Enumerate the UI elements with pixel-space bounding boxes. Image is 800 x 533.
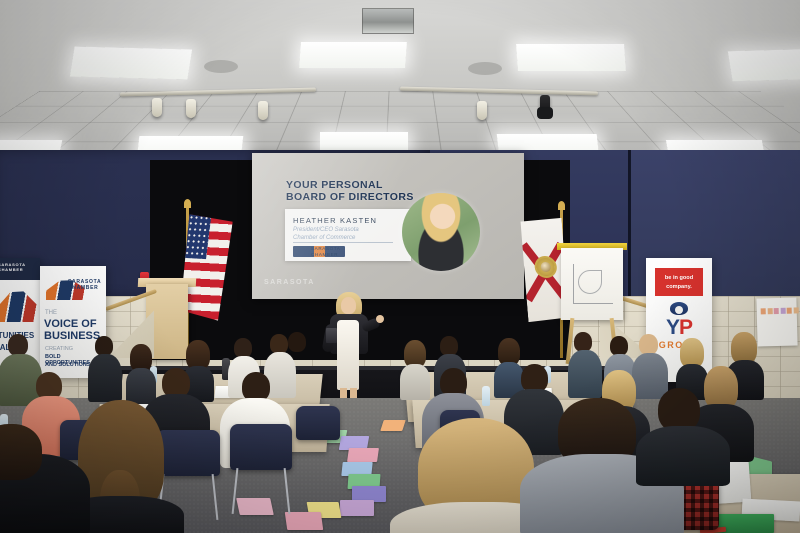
floor-card — [285, 512, 324, 530]
conference-room-photo: YOUR PERSONAL BOARD OF DIRECTORS HEATHER… — [0, 0, 800, 533]
slide-logo-line-1: SARASOTA — [311, 246, 340, 252]
yp-letter-p: P — [679, 316, 692, 339]
slide-logo-line-2: CHAMBER — [311, 252, 340, 258]
sticky-note — [761, 308, 766, 314]
slide-content: YOUR PERSONAL BOARD OF DIRECTORS HEATHER… — [252, 153, 524, 299]
banner-logo-text: SARASOTA CHAMBER — [0, 263, 38, 272]
audience-member — [636, 388, 724, 478]
yp-logo-mark-icon — [670, 302, 688, 315]
slide-logo-text: SARASOTA CHAMBER — [311, 246, 340, 257]
ceiling-speaker-grille — [468, 62, 502, 75]
audience-torso — [88, 354, 122, 402]
drop-tile-ceiling — [0, 0, 800, 168]
slide-speaker-name: HEATHER KASTEN — [293, 216, 377, 225]
sticky-note-row — [761, 307, 799, 314]
audience-member — [88, 336, 122, 398]
presenter-hand — [376, 315, 384, 323]
wall-seam — [628, 150, 631, 300]
audience-hair — [0, 424, 42, 480]
audience-head — [8, 334, 28, 356]
yp-tagline-box: be in good company. — [655, 268, 703, 296]
ceiling-light-panel — [728, 49, 800, 81]
audience-head — [288, 332, 306, 352]
audience-head — [610, 336, 628, 356]
wall-poster-sticky-chart — [756, 297, 797, 346]
slide-speaker-role-line-1: President/CEO Sarasota — [293, 227, 403, 235]
sticky-note — [793, 307, 798, 313]
slide-title-line-1: YOUR PERSONAL — [286, 179, 436, 191]
audience-torso — [282, 350, 316, 398]
banner-sub-line-3: AND SOLUTIONS — [45, 362, 91, 368]
yp-tagline-line-2: company. — [655, 283, 703, 291]
projection-screen: YOUR PERSONAL BOARD OF DIRECTORS HEATHER… — [252, 153, 524, 299]
floor-card — [236, 498, 274, 515]
slide-card-divider — [293, 242, 393, 243]
track-spotlight — [152, 98, 162, 117]
audience-member-foreground — [0, 424, 80, 533]
audience-member — [282, 332, 314, 394]
flip-chart-board — [561, 248, 623, 320]
track-spotlight — [477, 101, 487, 120]
presenter-dress — [337, 320, 359, 390]
ceiling-air-vent — [362, 8, 414, 34]
presenter-notes — [326, 328, 337, 343]
chamber-swoosh-icon — [0, 288, 37, 322]
presenter-head — [341, 297, 356, 314]
yp-tagline-line-1: be in good — [655, 274, 703, 282]
slide-headshot-avatar — [402, 193, 480, 271]
audience-head — [639, 334, 658, 355]
banner-eyebrow: THE — [45, 310, 57, 317]
ceiling-light-panel — [70, 46, 192, 79]
ceiling-light-panel — [516, 44, 626, 71]
sticky-note — [780, 308, 785, 314]
track-spotlight — [258, 101, 268, 120]
water-bottle — [482, 386, 490, 406]
ceiling-speaker-grille — [204, 60, 238, 73]
stacking-chair[interactable] — [230, 424, 292, 470]
audience-torso — [636, 426, 730, 486]
audience-head — [234, 338, 252, 358]
audience-head — [574, 332, 592, 352]
track-spotlight — [540, 95, 550, 114]
floor-card — [347, 448, 379, 462]
yp-letter-y: Y — [666, 316, 679, 339]
slide-title: YOUR PERSONAL BOARD OF DIRECTORS — [286, 179, 436, 203]
flip-chart-sketch — [573, 264, 613, 304]
banner-logo-text: SARASOTA CHAMBER — [68, 280, 101, 292]
ceiling-light-panel — [299, 42, 407, 68]
slide-speaker-role: President/CEO Sarasota Chamber of Commer… — [293, 227, 403, 242]
track-spotlight — [186, 99, 196, 118]
audience-head — [440, 336, 458, 356]
banner-sub-line-1: CREATING — [45, 346, 73, 352]
banner-logo-line-2: CHAMBER — [68, 286, 101, 292]
sticky-note — [767, 308, 772, 314]
sticky-note — [787, 308, 792, 314]
slide-speaker-role-line-2: Chamber of Commerce — [293, 235, 403, 243]
floor-card — [340, 500, 374, 516]
sticky-note — [774, 308, 779, 314]
slide-speaker-card: HEATHER KASTEN President/CEO Sarasota Ch… — [285, 209, 411, 261]
audience-head — [95, 336, 113, 356]
slide-title-line-2: BOARD OF DIRECTORS — [286, 191, 436, 203]
slide-watermark: SARASOTA — [264, 279, 315, 286]
banner-headline-line-1: VOICE OF — [44, 319, 97, 331]
stacking-chair[interactable] — [296, 406, 340, 440]
